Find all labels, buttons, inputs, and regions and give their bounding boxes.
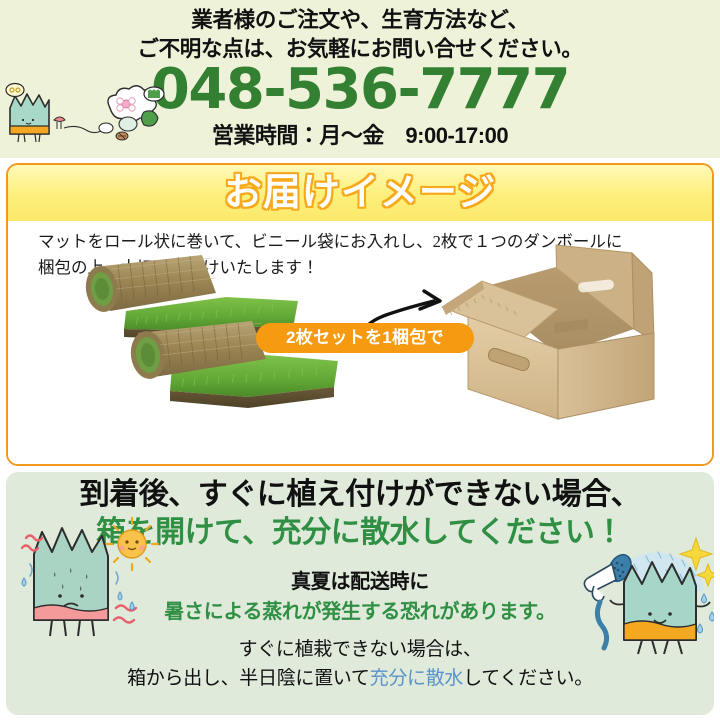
- delivery-card-title: お届けイメージ: [8, 168, 712, 218]
- care-advice-highlight: 充分に散水: [370, 668, 464, 689]
- grass-character-and-sheep-doodle: [2, 82, 178, 152]
- contact-heading-line1: 業者様のご注文や、生育方法など、: [0, 6, 720, 35]
- delivery-card-body: マットをロール状に巻いて、ビニール袋にお入れし、2枚で１つのダンボールに 梱包の…: [8, 221, 712, 464]
- open-cardboard-box-photo: [436, 237, 698, 427]
- care-advice-line2: 箱から出し、半日陰に置いて充分に散水してください。: [6, 664, 714, 693]
- set-badge: 2枚セットを1梱包で: [256, 323, 474, 353]
- watering-hose-grass-character: [572, 520, 714, 660]
- care-advice-line2-suffix: してください。: [463, 668, 593, 689]
- delivery-image-card: お届けイメージ マットをロール状に巻いて、ビニール袋にお入れし、2枚で１つのダン…: [6, 163, 714, 466]
- care-heading-line1: 到着後、すぐに植え付けができない場合、: [6, 476, 714, 514]
- promotional-page: 業者様のご注文や、生育方法など、 ご不明な点は、お気軽にお問い合せください。 0…: [0, 0, 720, 720]
- contact-heading: 業者様のご注文や、生育方法など、 ご不明な点は、お気軽にお問い合せください。: [0, 6, 720, 64]
- overheated-grass-character-with-sun: [10, 512, 170, 642]
- delivery-card-header: お届けイメージ: [8, 165, 712, 221]
- care-advice-line2-prefix: 箱から出し、半日陰に置いて: [127, 668, 370, 689]
- contact-header: 業者様のご注文や、生育方法など、 ご不明な点は、お気軽にお問い合せください。 0…: [0, 0, 720, 158]
- care-instructions-panel: 到着後、すぐに植え付けができない場合、 箱を開けて、充分に散水してください！ 真…: [6, 472, 714, 715]
